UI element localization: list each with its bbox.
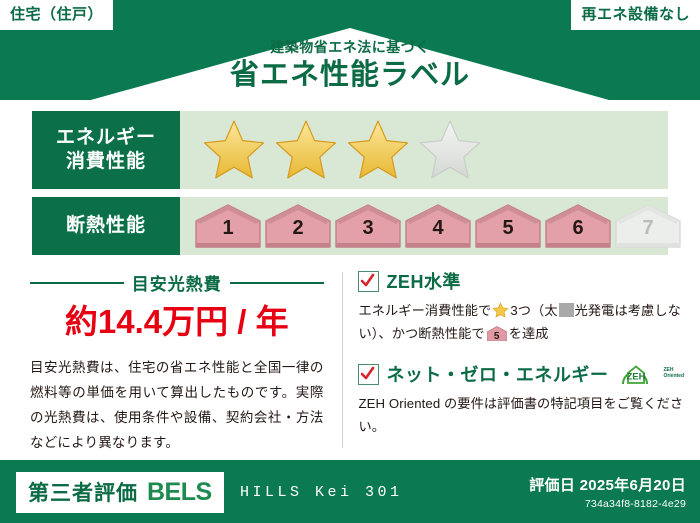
redacted-character	[559, 303, 574, 317]
zeh-caption-line2: Oriented	[663, 373, 684, 379]
zeh-text-part4: を達成	[509, 326, 549, 341]
bels-energy-label: 住宅（住戸） 再エネ設備なし 建築物省エネ法に基づく 省エネ性能ラベル エネルギ…	[0, 0, 700, 523]
inline-level-value: 5	[487, 328, 507, 346]
zeh-standard-title: ZEH水準	[386, 268, 461, 294]
svg-text:ZEH: ZEH	[627, 372, 646, 383]
star-filled-icon	[346, 119, 410, 181]
zeh-text-part2: 3つ（太	[510, 303, 557, 318]
insulation-level-value: 3	[334, 217, 402, 240]
energy-performance-row: エネルギー 消費性能	[32, 111, 668, 189]
star-filled-icon	[274, 119, 338, 181]
utility-cost-heading-text: 目安光熱費	[132, 270, 222, 295]
property-name: HILLS Kei 301	[240, 484, 403, 501]
insulation-level-scale: 1234567	[180, 203, 682, 249]
insulation-level-value: 2	[264, 217, 332, 240]
utility-cost-column: 目安光熱費 約14.4万円 / 年 目安光熱費は、住宅の省エネ性能と全国一律の燃…	[0, 268, 342, 458]
star-empty-icon	[418, 119, 482, 181]
building-type-badge: 住宅（住戸）	[0, 0, 113, 30]
net-zero-energy-header: ネット・ゼロ・エネルギー ZEH ZEH Oriented	[358, 361, 684, 387]
zeh-standard-item: ZEH水準 エネルギー消費性能で3つ（太光発電は考慮しない）、かつ断熱性能で5を…	[358, 268, 684, 345]
renewable-equipment-badge: 再エネ設備なし	[571, 0, 700, 30]
label-body: エネルギー 消費性能 断熱性能 1234567 目安光熱費	[0, 100, 700, 460]
insulation-house-filled: 4	[404, 203, 472, 249]
checkbox-checked-icon	[358, 271, 379, 292]
net-zero-energy-item: ネット・ゼロ・エネルギー ZEH ZEH Oriented	[358, 361, 684, 438]
inline-star-icon	[492, 302, 509, 318]
zeh-standard-text: エネルギー消費性能で3つ（太光発電は考慮しない）、かつ断熱性能で5を達成	[358, 299, 684, 345]
rule-left	[30, 282, 124, 284]
bels-logo: 第三者評価 BELS	[16, 472, 224, 513]
zeh-standard-header: ZEH水準	[358, 268, 684, 294]
evaluation-date: 評価日 2025年6月20日	[529, 474, 686, 495]
insulation-house-filled: 3	[334, 203, 402, 249]
energy-performance-label-line1: エネルギー	[56, 126, 156, 150]
net-zero-energy-text: ZEH Oriented の要件は評価書の特記項目をご覧ください。	[358, 392, 684, 438]
zeh-text-part1: エネルギー消費性能で	[358, 303, 491, 318]
evaluation-id: 734a34f8-8182-4e29	[529, 498, 686, 510]
zeh-column: ZEH水準 エネルギー消費性能で3つ（太光発電は考慮しない）、かつ断熱性能で5を…	[342, 268, 700, 458]
insulation-level-value: 1	[194, 217, 262, 240]
energy-performance-label-line2: 消費性能	[66, 150, 146, 174]
evaluation-info: 評価日 2025年6月20日 734a34f8-8182-4e29	[529, 474, 686, 510]
insulation-house-filled: 5	[474, 203, 542, 249]
energy-performance-label: エネルギー 消費性能	[32, 111, 180, 189]
rule-right	[230, 282, 324, 284]
bels-en-text: BELS	[147, 478, 212, 507]
insulation-level-value: 5	[474, 217, 542, 240]
inline-level-house-icon: 5	[487, 326, 507, 341]
insulation-house-filled: 6	[544, 203, 612, 249]
energy-performance-content	[180, 111, 668, 189]
star-filled-icon	[202, 119, 266, 181]
insulation-performance-label: 断熱性能	[32, 197, 180, 255]
insulation-performance-label-text: 断熱性能	[66, 214, 146, 238]
insulation-level-value: 4	[404, 217, 472, 240]
utility-cost-value: 約14.4万円 / 年	[30, 304, 324, 340]
utility-cost-note: 目安光熱費は、住宅の省エネ性能と全国一律の燃料等の単価を用いて算出したものです。…	[30, 356, 324, 456]
zeh-oriented-logo-icon: ZEH	[615, 362, 655, 386]
insulation-level-value: 7	[614, 217, 682, 240]
checkbox-checked-icon-2	[358, 364, 379, 385]
insulation-level-value: 6	[544, 217, 612, 240]
insulation-house-empty: 7	[614, 203, 682, 249]
zeh-oriented-caption: ZEH Oriented	[663, 368, 684, 380]
bels-jp-text: 第三者評価	[28, 477, 138, 507]
insulation-performance-row: 断熱性能 1234567	[32, 197, 668, 255]
insulation-house-filled: 2	[264, 203, 332, 249]
star-rating	[180, 119, 482, 181]
details-columns: 目安光熱費 約14.4万円 / 年 目安光熱費は、住宅の省エネ性能と全国一律の燃…	[0, 268, 700, 458]
utility-cost-heading: 目安光熱費	[30, 270, 324, 295]
insulation-house-filled: 1	[194, 203, 262, 249]
label-footer: 第三者評価 BELS HILLS Kei 301 評価日 2025年6月20日 …	[0, 460, 700, 523]
insulation-performance-content: 1234567	[180, 197, 682, 255]
net-zero-energy-title: ネット・ゼロ・エネルギー	[386, 361, 608, 387]
